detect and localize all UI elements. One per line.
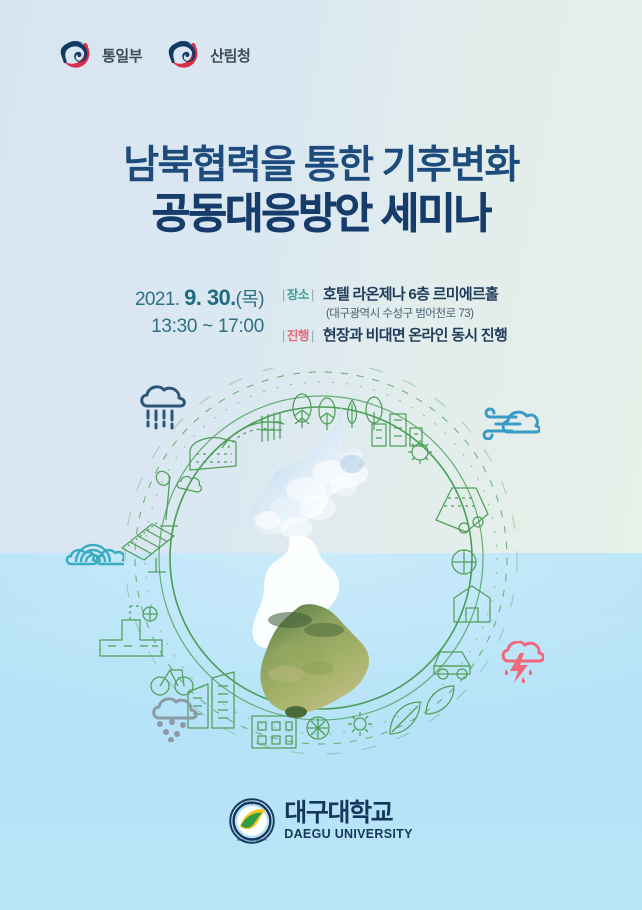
taeguk-icon — [56, 36, 94, 74]
info-value-place: 호텔 라온제나 6층 르미에르홀 — [323, 283, 498, 304]
date-month-day: 9. 30. — [184, 285, 235, 310]
info-value-mode: 현장과 비대면 온라인 동시 진행 — [323, 324, 507, 345]
thunder-cloud-icon — [496, 641, 544, 688]
north-korea-region — [249, 407, 368, 539]
snow-cloud-icon — [146, 696, 198, 747]
gov-logo-label: 산림청 — [210, 45, 250, 66]
university-name-en: DAEGU UNIVERSITY — [284, 828, 412, 841]
event-info: 2021. 9. 30.(목) 13:30 ~ 17:00 |장소| 호텔 라온… — [0, 283, 642, 345]
info-tag-place: |장소| — [280, 284, 316, 303]
date-year: 2021. — [135, 289, 180, 310]
info-row-place: |장소| 호텔 라온제나 6층 르미에르홀 — [280, 283, 507, 304]
gov-logo-label: 통일부 — [102, 45, 142, 66]
university-logo: 대 구 대 학 교 DAEGU UNIVERSITY 대구대학교 DAEGU U… — [0, 798, 642, 844]
rain-cloud-icon — [134, 384, 186, 435]
event-datetime: 2021. 9. 30.(목) 13:30 ~ 17:00 — [135, 283, 264, 338]
gov-logo-unification: 통일부 — [56, 36, 142, 74]
korea-peninsula-map — [249, 407, 369, 718]
rainbow-cloud-icon — [62, 532, 124, 573]
wind-cloud-icon — [482, 404, 540, 445]
university-name: 대구대학교 DAEGU UNIVERSITY — [284, 801, 412, 841]
svg-text:DAEGU UNIVERSITY: DAEGU UNIVERSITY — [237, 838, 268, 842]
south-korea-region — [260, 604, 369, 718]
university-seal-icon: 대 구 대 학 교 DAEGU UNIVERSITY — [229, 798, 275, 844]
event-date: 2021. 9. 30.(목) — [135, 284, 264, 311]
info-tag-mode: |진행| — [280, 325, 316, 344]
poster-title: 남북협력을 통한 기후변화 공동대응방안 세미나 — [0, 144, 642, 238]
jeju-island — [285, 706, 307, 718]
svg-text:대 구 대 학 교: 대 구 대 학 교 — [243, 800, 261, 805]
info-row-mode: |진행| 현장과 비대면 온라인 동시 진행 — [280, 324, 507, 345]
info-subtext-address: (대구광역시 수성구 범어천로 73) — [280, 305, 507, 321]
event-time: 13:30 ~ 17:00 — [135, 316, 264, 338]
university-name-ko: 대구대학교 — [284, 801, 412, 826]
title-line-2: 공동대응방안 세미나 — [0, 190, 642, 239]
taeguk-icon — [164, 36, 202, 74]
date-weekday: (목) — [236, 289, 264, 310]
poster-canvas: 통일부 산림청 남북협력을 통한 기후변화 공동대응방안 세미나 2021. 9… — [0, 0, 642, 910]
title-line-1: 남북협력을 통한 기후변화 — [0, 144, 642, 188]
gov-logo-forest-service: 산림청 — [164, 36, 250, 74]
event-details: |장소| 호텔 라온제나 6층 르미에르홀 (대구광역시 수성구 범어천로 73… — [280, 283, 507, 345]
government-logos: 통일부 산림청 — [56, 36, 250, 74]
